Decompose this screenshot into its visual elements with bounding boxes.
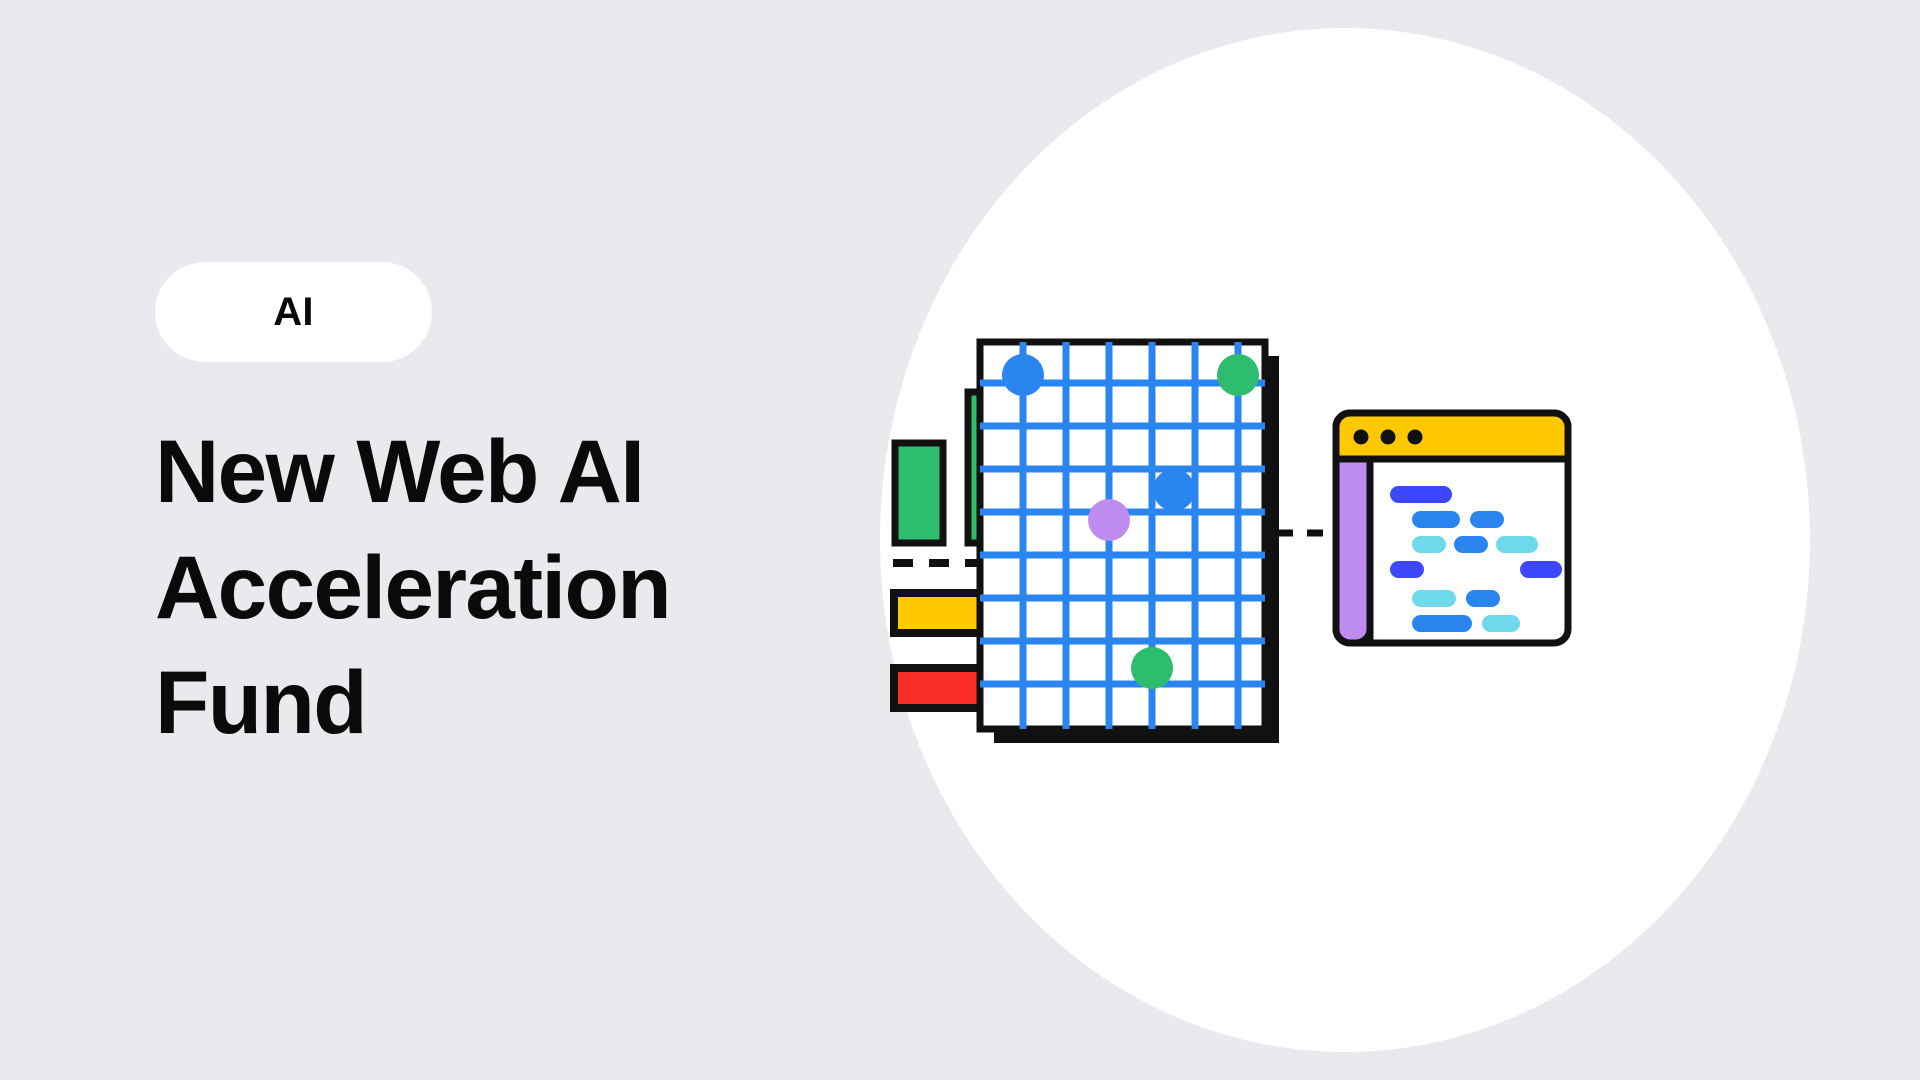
code-pill [1454, 536, 1488, 553]
window-dot-2-icon[interactable] [1381, 430, 1396, 445]
poster-canvas: AI New Web AI Acceleration Fund [0, 0, 1920, 1080]
scatter-grid-panel-icon [980, 342, 1279, 743]
green-dot-1 [1217, 354, 1259, 396]
window-dot-3-icon[interactable] [1408, 430, 1423, 445]
ai-badge[interactable]: AI [155, 262, 432, 362]
code-pill [1470, 511, 1504, 528]
ai-badge-label: AI [273, 292, 313, 332]
code-pill [1412, 511, 1460, 528]
purple-dot-1 [1088, 499, 1130, 541]
window-titlebar [1336, 413, 1568, 459]
window-dot-1-icon[interactable] [1354, 430, 1369, 445]
hero-illustration [880, 28, 1810, 1052]
code-pill [1496, 536, 1538, 553]
code-pill [1412, 615, 1472, 632]
code-pill [1412, 590, 1456, 607]
code-pill [1390, 561, 1424, 578]
hero-text-block: AI New Web AI Acceleration Fund [155, 262, 875, 821]
green-dot-2 [1131, 647, 1173, 689]
illustration-artwork [880, 28, 1810, 1052]
browser-code-window-icon [1336, 413, 1568, 643]
code-pill [1482, 615, 1520, 632]
code-pill [1390, 486, 1452, 503]
code-pill [1520, 561, 1562, 578]
code-pill [1466, 590, 1500, 607]
blue-dot-2 [1153, 469, 1195, 511]
blue-dot-1 [1002, 354, 1044, 396]
page-title: New Web AI Acceleration Fund [155, 414, 875, 761]
window-sidebar[interactable] [1336, 459, 1370, 643]
code-pill [1412, 536, 1446, 553]
